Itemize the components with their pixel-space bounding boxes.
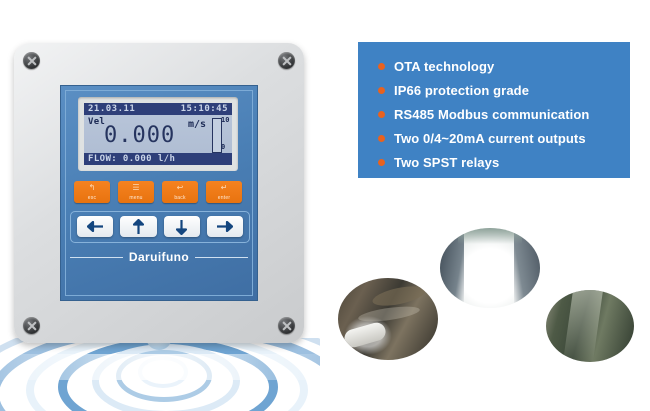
lcd-status-bar: 21.03.11 15:10:45	[84, 103, 232, 115]
feature-item: Two SPST relays	[378, 150, 630, 174]
velocity-label: Vel	[88, 117, 105, 127]
gauge-min-label: 0	[221, 143, 225, 151]
enter-icon: ↵	[206, 183, 242, 192]
back-label: back	[162, 195, 198, 201]
arrow-left-button[interactable]	[77, 216, 113, 237]
arrow-keypad	[70, 211, 250, 243]
ripple-sheen	[0, 354, 320, 380]
foam-edge	[458, 228, 522, 244]
velocity-unit: m/s	[188, 119, 206, 130]
back-icon: ↩	[162, 183, 198, 192]
bullet-icon	[378, 159, 385, 166]
discharge-pipe	[342, 321, 387, 350]
application-photo-drainage-pipe	[338, 278, 438, 360]
menu-button[interactable]: ☰ menu	[118, 181, 154, 203]
application-photo-water-channel	[546, 290, 634, 362]
esc-label: esc	[74, 195, 110, 201]
screw-icon	[23, 52, 40, 69]
feature-text: Two 0/4~20mA current outputs	[394, 131, 586, 146]
feature-text: OTA technology	[394, 59, 494, 74]
arrow-down-icon	[176, 219, 187, 235]
sludge-texture	[357, 304, 420, 325]
screw-icon	[278, 52, 295, 69]
screw-icon	[278, 317, 295, 334]
arrow-right-button[interactable]	[207, 216, 243, 237]
brand-rule-right	[195, 257, 248, 258]
arrow-right-icon	[216, 221, 233, 232]
feature-text: IP66 protection grade	[394, 83, 529, 98]
feature-text: Two SPST relays	[394, 155, 499, 170]
sludge-texture	[371, 283, 427, 310]
velocity-value: 0.000	[104, 123, 175, 148]
lcd-date: 21.03.11	[88, 103, 135, 115]
device-faceplate: 21.03.11 15:10:45 Vel 0.000 m/s 10 0 FLO…	[60, 85, 258, 301]
arrow-left-icon	[87, 221, 104, 232]
brand-name: Daruifuno	[129, 250, 189, 264]
feature-item: Two 0/4~20mA current outputs	[378, 126, 630, 150]
lcd-time: 15:10:45	[181, 103, 228, 115]
esc-button[interactable]: ↰ esc	[74, 181, 110, 203]
lcd-main-area: Vel 0.000 m/s 10 0	[84, 115, 232, 153]
channel-highlight	[563, 290, 603, 362]
application-photo-foamy-water	[440, 228, 540, 308]
brand-bar: Daruifuno	[70, 249, 248, 265]
function-key-row: ↰ esc ☰ menu ↩ back ↵ enter	[74, 181, 244, 203]
arrow-key-row	[77, 216, 243, 237]
screw-icon	[23, 317, 40, 334]
bullet-icon	[378, 111, 385, 118]
water-ripple-graphic	[0, 338, 320, 411]
flow-meter-device: 21.03.11 15:10:45 Vel 0.000 m/s 10 0 FLO…	[14, 43, 304, 343]
brand-rule-left	[70, 257, 123, 258]
esc-icon: ↰	[74, 183, 110, 192]
gauge-max-label: 10	[221, 116, 229, 124]
lcd-screen: 21.03.11 15:10:45 Vel 0.000 m/s 10 0 FLO…	[84, 103, 232, 165]
arrow-up-icon	[133, 219, 144, 235]
enter-label: enter	[206, 195, 242, 201]
feature-item: IP66 protection grade	[378, 78, 630, 102]
back-button[interactable]: ↩ back	[162, 181, 198, 203]
menu-label: menu	[118, 195, 154, 201]
arrow-up-button[interactable]	[120, 216, 156, 237]
bullet-icon	[378, 135, 385, 142]
enter-button[interactable]: ↵ enter	[206, 181, 242, 203]
feature-item: OTA technology	[378, 54, 630, 78]
arrow-down-button[interactable]	[164, 216, 200, 237]
bullet-icon	[378, 63, 385, 70]
lcd-bezel: 21.03.11 15:10:45 Vel 0.000 m/s 10 0 FLO…	[78, 97, 238, 171]
bullet-icon	[378, 87, 385, 94]
feature-text: RS485 Modbus communication	[394, 107, 589, 122]
feature-item: RS485 Modbus communication	[378, 102, 630, 126]
menu-icon: ☰	[118, 183, 154, 192]
lcd-flow-bar: FLOW: 0.000 l/h	[84, 153, 232, 165]
features-panel: OTA technology IP66 protection grade RS4…	[358, 42, 630, 178]
